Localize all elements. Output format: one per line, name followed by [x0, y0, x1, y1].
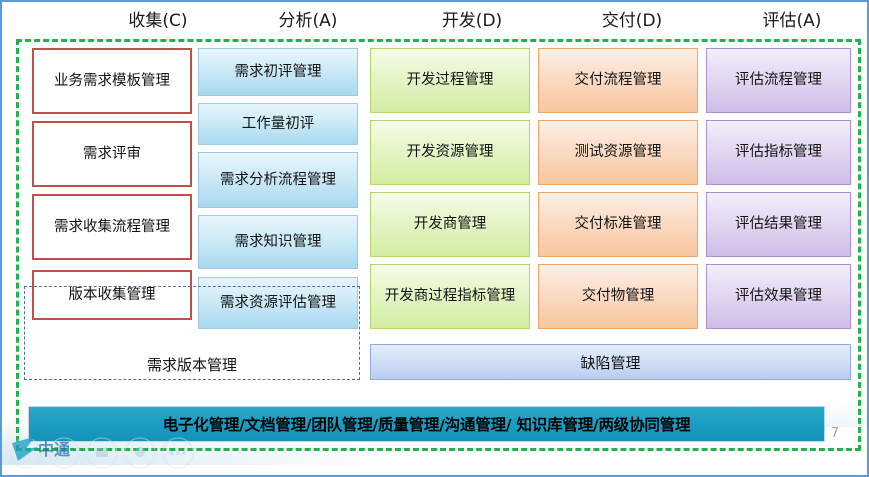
- box-delivery-standard-management[interactable]: 交付标准管理: [538, 192, 698, 257]
- box-evaluation-process-management[interactable]: 评估流程管理: [706, 48, 851, 113]
- box-deliverable-management[interactable]: 交付物管理: [538, 264, 698, 329]
- box-test-resource-management[interactable]: 测试资源管理: [538, 120, 698, 185]
- box-workload-initial-estimate[interactable]: 工作量初评: [198, 103, 358, 145]
- box-developer-vendor-management[interactable]: 开发商管理: [370, 192, 530, 257]
- box-requirement-collection-process-management[interactable]: 需求收集流程管理: [32, 194, 192, 260]
- group-requirement-version-management: 需求版本管理: [24, 286, 360, 380]
- box-vendor-process-metric-management[interactable]: 开发商过程指标管理: [370, 264, 530, 329]
- slide-canvas: 收集(C) 分析(A) 开发(D) 交付(D) 评估(A) 业务需求模板管理 需…: [0, 0, 869, 477]
- footer-capabilities-bar: 电子化管理/文档管理/团队管理/质量管理/沟通管理/ 知识库管理/两级协同管理: [28, 406, 825, 442]
- box-development-resource-management[interactable]: 开发资源管理: [370, 120, 530, 185]
- box-delivery-process-management[interactable]: 交付流程管理: [538, 48, 698, 113]
- column-evaluation: 评估流程管理 评估指标管理 评估结果管理 评估效果管理: [706, 48, 851, 336]
- column-header-delivery: 交付(D): [542, 8, 722, 34]
- box-evaluation-metric-management[interactable]: 评估指标管理: [706, 120, 851, 185]
- column-header-evaluation: 评估(A): [702, 8, 869, 34]
- slide-number: 7: [831, 426, 839, 441]
- column-delivery: 交付流程管理 测试资源管理 交付标准管理 交付物管理: [538, 48, 698, 336]
- column-header-development: 开发(D): [382, 8, 562, 34]
- box-requirement-initial-review-management[interactable]: 需求初评管理: [198, 48, 358, 96]
- column-header-analysis: 分析(A): [218, 8, 398, 34]
- box-evaluation-effect-management[interactable]: 评估效果管理: [706, 264, 851, 329]
- box-evaluation-result-management[interactable]: 评估结果管理: [706, 192, 851, 257]
- group-requirement-version-management-label: 需求版本管理: [25, 354, 359, 375]
- column-development: 开发过程管理 开发资源管理 开发商管理 开发商过程指标管理: [370, 48, 530, 336]
- box-requirement-analysis-process-management[interactable]: 需求分析流程管理: [198, 152, 358, 208]
- box-development-process-management[interactable]: 开发过程管理: [370, 48, 530, 113]
- box-defect-management[interactable]: 缺陷管理: [370, 344, 851, 380]
- column-header-row: 收集(C) 分析(A) 开发(D) 交付(D) 评估(A): [2, 8, 869, 36]
- box-requirement-knowledge-management[interactable]: 需求知识管理: [198, 215, 358, 269]
- box-requirement-review[interactable]: 需求评审: [32, 121, 192, 187]
- box-business-requirement-template-management[interactable]: 业务需求模板管理: [32, 48, 192, 114]
